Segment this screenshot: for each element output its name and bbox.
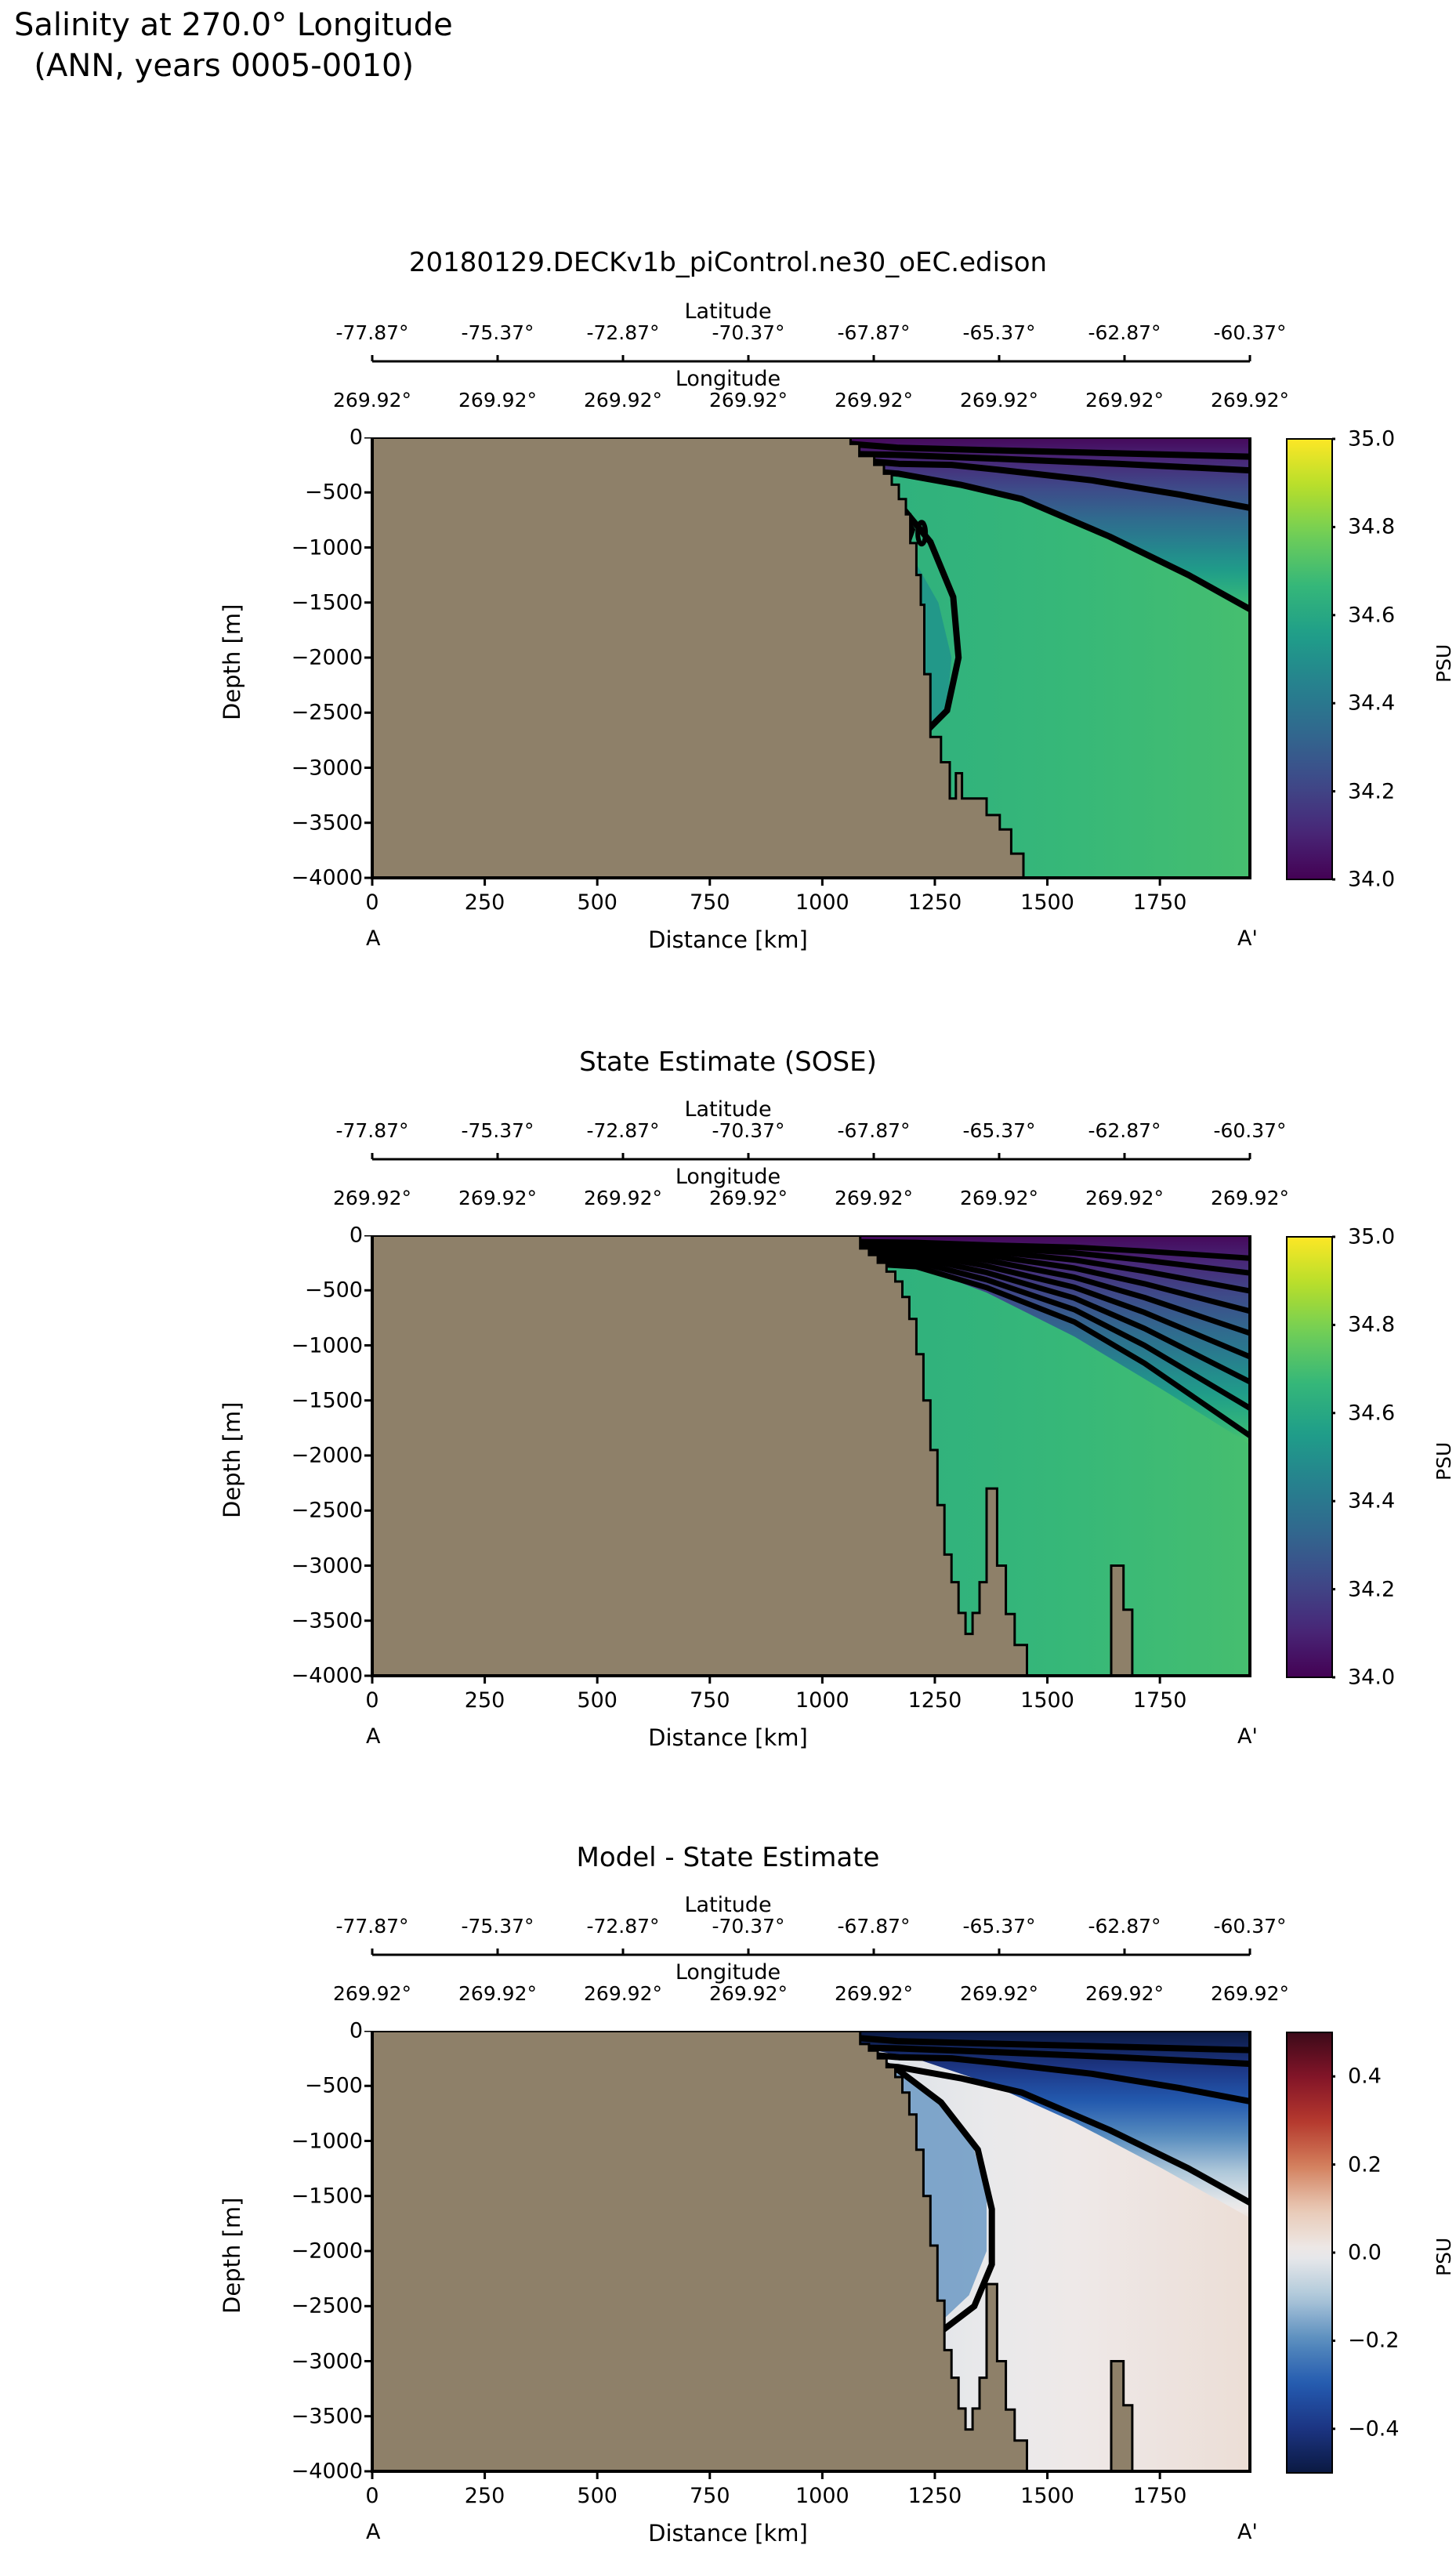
- colorbar-tick-label: 0.0: [1348, 2241, 1382, 2265]
- x-tick-label: 1000: [795, 1688, 849, 1713]
- colorbar-tick-label: 34.0: [1348, 868, 1395, 892]
- y-tick-label: −2000: [255, 646, 363, 670]
- x-tick-label: 1250: [908, 890, 962, 915]
- latitude-tick: -72.87°: [586, 1915, 659, 1938]
- y-tick-label: −1000: [255, 535, 363, 560]
- y-tick-label: 0: [255, 2019, 363, 2043]
- longitude-tick: 269.92°: [1085, 1982, 1164, 2005]
- x-tick-label: 250: [465, 2484, 505, 2508]
- y-tick-label: −3500: [255, 1608, 363, 1633]
- x-tick-label: 750: [690, 1688, 730, 1713]
- colorbar-tick-label: 34.4: [1348, 691, 1395, 716]
- x-tick-label: 500: [577, 2484, 618, 2508]
- y-tick-label: −500: [255, 480, 363, 505]
- transect-start-label: A: [366, 926, 380, 951]
- x-tick-label: 0: [365, 2484, 378, 2508]
- latitude-tick: -75.37°: [461, 1119, 534, 1142]
- x-tick-label: 750: [690, 890, 730, 915]
- colorbar-tick-label: 0.4: [1348, 2065, 1382, 2089]
- transect-end-label: A': [1237, 926, 1258, 951]
- latitude-tick: -65.37°: [962, 1915, 1035, 1938]
- y-tick-label: −500: [255, 1278, 363, 1303]
- colorbar-tick-label: 34.4: [1348, 1489, 1395, 1514]
- y-tick-label: −3500: [255, 2404, 363, 2428]
- colorbar-tick-label: 0.2: [1348, 2152, 1382, 2177]
- x-tick-label: 1750: [1133, 1688, 1187, 1713]
- y-tick-label: −2500: [255, 1499, 363, 1523]
- colorbar-tick-label: −0.4: [1348, 2416, 1400, 2441]
- latitude-tick: -75.37°: [461, 1915, 534, 1938]
- y-tick-label: −3000: [255, 2349, 363, 2373]
- longitude-tick: 269.92°: [333, 1982, 411, 2005]
- latitude-tick: -60.37°: [1213, 321, 1286, 344]
- y-tick-label: −500: [255, 2074, 363, 2098]
- x-tick-label: 500: [577, 1688, 618, 1713]
- latitude-axis-label: Latitude: [0, 299, 1456, 324]
- transect-end-label: A': [1237, 1724, 1258, 1749]
- x-tick-label: 1000: [795, 2484, 849, 2508]
- x-tick-label: 1500: [1020, 2484, 1074, 2508]
- latitude-tick: -67.87°: [837, 1119, 910, 1142]
- x-tick-label: 1750: [1133, 2484, 1187, 2508]
- longitude-tick: 269.92°: [1085, 1187, 1164, 1209]
- y-tick-label: −1500: [255, 590, 363, 614]
- latitude-tick: -67.87°: [837, 321, 910, 344]
- y-tick-label: −4000: [255, 866, 363, 890]
- x-tick-label: 1500: [1020, 890, 1074, 915]
- longitude-tick: 269.92°: [709, 1982, 788, 2005]
- transect-end-label: A': [1237, 2520, 1258, 2544]
- longitude-tick: 269.92°: [835, 389, 913, 411]
- latitude-tick: -65.37°: [962, 1119, 1035, 1142]
- longitude-axis-label: Longitude: [0, 367, 1456, 391]
- y-tick-label: 0: [255, 1223, 363, 1248]
- longitude-tick: 269.92°: [1085, 389, 1164, 411]
- longitude-tick: 269.92°: [458, 1982, 537, 2005]
- latitude-tick: -60.37°: [1213, 1915, 1286, 1938]
- latitude-tick: -72.87°: [586, 321, 659, 344]
- x-tick-label: 1000: [795, 890, 849, 915]
- transect-start-label: A: [366, 1724, 380, 1749]
- x-tick-label: 250: [465, 890, 505, 915]
- suptitle-line-2: (ANN, years 0005-0010): [14, 48, 414, 84]
- longitude-tick: 269.92°: [1211, 1982, 1289, 2005]
- longitude-tick: 269.92°: [333, 1187, 411, 1209]
- colorbar-label: PSU: [1432, 644, 1455, 683]
- y-tick-label: −3000: [255, 1553, 363, 1578]
- longitude-tick: 269.92°: [960, 1982, 1038, 2005]
- transect-start-label: A: [366, 2520, 380, 2544]
- latitude-tick-labels: -77.87°-75.37°-72.87°-70.37°-67.87°-65.3…: [0, 1119, 1456, 1143]
- longitude-tick: 269.92°: [584, 1187, 662, 1209]
- longitude-tick: 269.92°: [584, 1982, 662, 2005]
- y-tick-label: −1000: [255, 2129, 363, 2153]
- latitude-axis-label: Latitude: [0, 1893, 1456, 1917]
- y-axis-label: Depth [m]: [219, 604, 245, 720]
- colorbar-tick-label: 34.6: [1348, 1401, 1395, 1425]
- longitude-tick-labels: 269.92°269.92°269.92°269.92°269.92°269.9…: [0, 1982, 1456, 2006]
- y-tick-label: −4000: [255, 2460, 363, 2484]
- x-tick-label: 1750: [1133, 890, 1187, 915]
- colorbar-tick-label: 34.8: [1348, 1313, 1395, 1337]
- longitude-tick: 269.92°: [458, 1187, 537, 1209]
- latitude-tick: -65.37°: [962, 321, 1035, 344]
- latitude-tick: -72.87°: [586, 1119, 659, 1142]
- latitude-tick-labels: -77.87°-75.37°-72.87°-70.37°-67.87°-65.3…: [0, 1915, 1456, 1938]
- latitude-tick: -67.87°: [837, 1915, 910, 1938]
- colorbar-tick-label: 35.0: [1348, 427, 1395, 451]
- panel-title: Model - State Estimate: [0, 1842, 1456, 1873]
- colorbar-label: PSU: [1432, 2238, 1455, 2276]
- longitude-tick: 269.92°: [835, 1982, 913, 2005]
- x-tick-label: 1500: [1020, 1688, 1074, 1713]
- colorbar-tick-label: 34.8: [1348, 515, 1395, 539]
- colorbar-tick-label: 34.2: [1348, 779, 1395, 803]
- latitude-tick: -77.87°: [335, 1119, 408, 1142]
- panel-title: State Estimate (SOSE): [0, 1046, 1456, 1078]
- longitude-tick-labels: 269.92°269.92°269.92°269.92°269.92°269.9…: [0, 1187, 1456, 1210]
- latitude-tick: -60.37°: [1213, 1119, 1286, 1142]
- longitude-tick: 269.92°: [835, 1187, 913, 1209]
- colorbar-tick-label: 34.2: [1348, 1577, 1395, 1601]
- longitude-tick: 269.92°: [960, 389, 1038, 411]
- y-tick-label: −2500: [255, 2294, 363, 2318]
- colorbar-tick-label: 34.6: [1348, 603, 1395, 627]
- colorbar-tick-label: 35.0: [1348, 1225, 1395, 1249]
- latitude-tick: -62.87°: [1088, 321, 1161, 344]
- latitude-tick: -62.87°: [1088, 1915, 1161, 1938]
- panel-title: 20180129.DECKv1b_piControl.ne30_oEC.edis…: [0, 247, 1456, 278]
- y-tick-label: −2000: [255, 1444, 363, 1468]
- longitude-tick: 269.92°: [960, 1187, 1038, 1209]
- longitude-tick: 269.92°: [584, 389, 662, 411]
- longitude-tick: 269.92°: [1211, 1187, 1289, 1209]
- longitude-tick: 269.92°: [333, 389, 411, 411]
- longitude-tick-labels: 269.92°269.92°269.92°269.92°269.92°269.9…: [0, 389, 1456, 412]
- y-tick-label: −1500: [255, 1388, 363, 1412]
- longitude-tick: 269.92°: [1211, 389, 1289, 411]
- longitude-axis-label: Longitude: [0, 1960, 1456, 1985]
- y-tick-label: −1000: [255, 1333, 363, 1358]
- latitude-tick: -70.37°: [712, 1119, 784, 1142]
- y-tick-label: 0: [255, 426, 363, 450]
- longitude-tick: 269.92°: [709, 1187, 788, 1209]
- x-tick-label: 250: [465, 1688, 505, 1713]
- y-tick-label: −4000: [255, 1664, 363, 1688]
- colorbar: [1285, 2031, 1335, 2476]
- colorbar: [1285, 437, 1335, 883]
- colorbar-label: PSU: [1432, 1442, 1455, 1481]
- y-axis-label: Depth [m]: [219, 1402, 245, 1518]
- longitude-tick: 269.92°: [458, 389, 537, 411]
- latitude-tick: -70.37°: [712, 321, 784, 344]
- y-tick-label: −2000: [255, 2239, 363, 2264]
- colorbar: [1285, 1235, 1335, 1680]
- latitude-tick-labels: -77.87°-75.37°-72.87°-70.37°-67.87°-65.3…: [0, 321, 1456, 345]
- latitude-tick: -62.87°: [1088, 1119, 1161, 1142]
- x-tick-label: 500: [577, 890, 618, 915]
- y-tick-label: −3000: [255, 756, 363, 780]
- y-tick-label: −1500: [255, 2184, 363, 2208]
- x-tick-label: 1250: [908, 1688, 962, 1713]
- x-tick-label: 0: [365, 890, 378, 915]
- latitude-tick: -70.37°: [712, 1915, 784, 1938]
- colorbar-tick-label: −0.2: [1348, 2329, 1400, 2353]
- x-tick-label: 750: [690, 2484, 730, 2508]
- latitude-tick: -75.37°: [461, 321, 534, 344]
- colorbar-tick-label: 34.0: [1348, 1666, 1395, 1690]
- x-tick-label: 1250: [908, 2484, 962, 2508]
- figure-suptitle: Salinity at 270.0° Longitude (ANN, years…: [14, 5, 453, 86]
- latitude-axis-label: Latitude: [0, 1097, 1456, 1122]
- longitude-tick: 269.92°: [709, 389, 788, 411]
- y-axis-label: Depth [m]: [219, 2198, 245, 2314]
- y-tick-label: −2500: [255, 701, 363, 725]
- y-tick-label: −3500: [255, 810, 363, 835]
- latitude-tick: -77.87°: [335, 321, 408, 344]
- longitude-axis-label: Longitude: [0, 1165, 1456, 1189]
- x-tick-label: 0: [365, 1688, 378, 1713]
- suptitle-line-1: Salinity at 270.0° Longitude: [14, 7, 453, 43]
- latitude-tick: -77.87°: [335, 1915, 408, 1938]
